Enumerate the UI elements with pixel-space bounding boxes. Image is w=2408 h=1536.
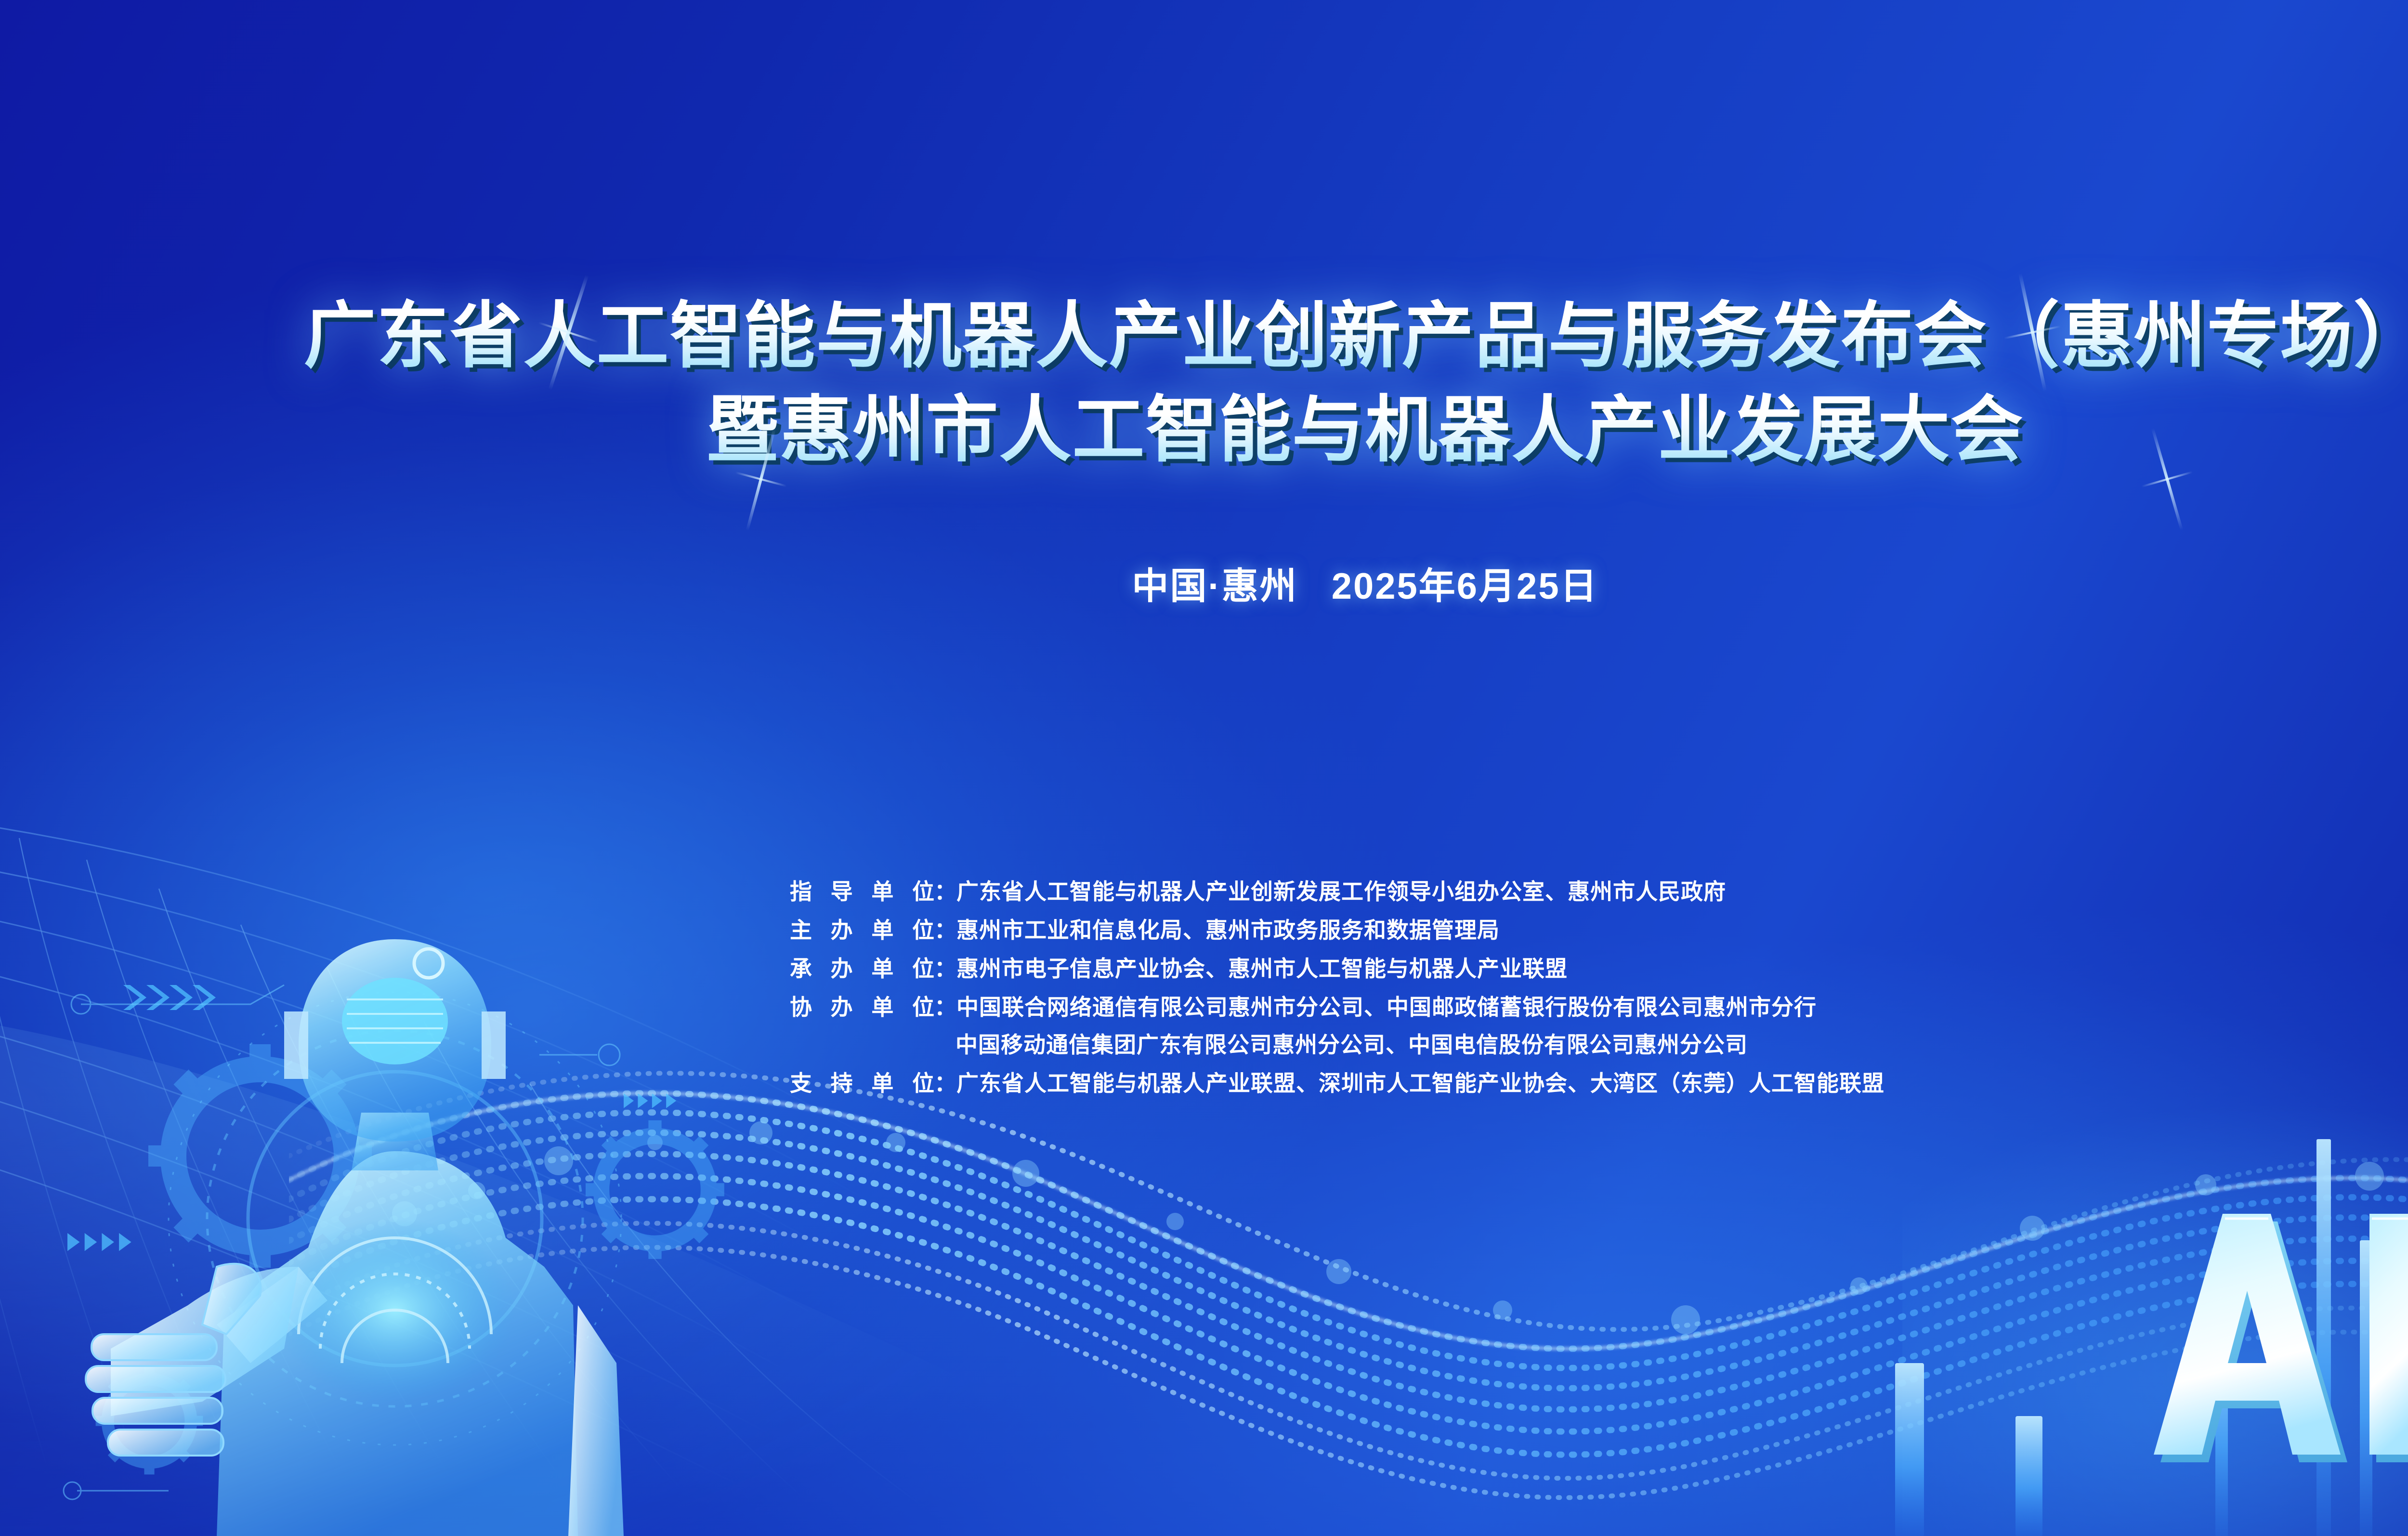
sparkle-icon	[2129, 424, 2206, 535]
conference-title-line-2: 暨惠州市人工智能与机器人产业发展大会	[0, 383, 2408, 477]
humanoid-robot-graphic	[58, 901, 780, 1536]
organization-value: 惠州市工业和信息化局、惠州市政务服务和数据管理局	[956, 913, 2408, 945]
organization-value: 广东省人工智能与机器人产业创新发展工作领导小组办公室、惠州市人民政府	[956, 874, 2408, 906]
organization-colon: ：	[934, 874, 956, 906]
organization-row: 协办单位 ： 中国联合网络通信有限公司惠州市分公司、中国邮政储蓄银行股份有限公司…	[790, 990, 2408, 1022]
organization-row: 支持单位 ： 广东省人工智能与机器人产业联盟、深圳市人工智能产业协会、大湾区（东…	[790, 1066, 2408, 1098]
gear-icon	[96, 1044, 724, 1474]
organization-label: 协办单位	[790, 990, 934, 1022]
ai-logotype	[2133, 1204, 2408, 1474]
sparkle-icon	[1989, 270, 2076, 395]
organization-row: 承办单位 ： 惠州市电子信息产业协会、惠州市人工智能与机器人产业联盟	[790, 951, 2408, 983]
organization-value: 中国联合网络通信有限公司惠州市分公司、中国邮政储蓄银行股份有限公司惠州市分行	[956, 990, 2408, 1022]
organization-label: 主办单位	[790, 913, 934, 945]
organization-label: 指导单位	[790, 874, 934, 906]
organization-value: 广东省人工智能与机器人产业联盟、深圳市人工智能产业协会、大湾区（东莞）人工智能联…	[956, 1066, 2408, 1098]
organization-row: 主办单位 ： 惠州市工业和信息化局、惠州市政务服务和数据管理局	[790, 913, 2408, 945]
subtitle-block: 中国·惠州2025年6月25日	[0, 556, 2408, 609]
organization-colon: ：	[934, 951, 956, 983]
organization-row: 指导单位 ： 广东省人工智能与机器人产业创新发展工作领导小组办公室、惠州市人民政…	[790, 874, 2408, 906]
organization-value: 惠州市电子信息产业协会、惠州市人工智能与机器人产业联盟	[956, 951, 2408, 983]
background-glow-ai-panel	[1902, 1084, 2408, 1536]
date-text: 2025年6月25日	[1332, 566, 1598, 607]
organizations-block: 指导单位 ： 广东省人工智能与机器人产业创新发展工作领导小组办公室、惠州市人民政…	[790, 874, 2408, 1104]
location-text: 中国·惠州	[1132, 566, 1297, 607]
hud-ring-decoration	[169, 992, 621, 1445]
organization-colon: ：	[934, 1066, 956, 1098]
radial-grid-decoration	[0, 751, 1060, 1536]
conference-banner: 广东省人工智能与机器人产业创新产品与服务发布会（惠州专场） 暨惠州市人工智能与机…	[0, 0, 2408, 1536]
chevron-arrows-icon	[67, 985, 676, 1251]
sparkle-icon	[525, 270, 612, 395]
organization-label: 支持单位	[790, 1066, 934, 1098]
organization-value: 中国移动通信集团广东有限公司惠州分公司、中国电信股份有限公司惠州分公司	[955, 1027, 2408, 1059]
robot-body	[86, 939, 624, 1536]
organization-colon: ：	[934, 913, 956, 945]
organization-colon: ：	[934, 990, 956, 1022]
robot-hand	[86, 1264, 261, 1456]
head-sensor-icon	[414, 949, 443, 978]
organization-label: 承办单位	[790, 951, 934, 983]
organization-row-continuation: 中国移动通信集团广东有限公司惠州分公司、中国电信股份有限公司惠州分公司	[790, 1027, 2408, 1059]
sparkle-icon	[722, 424, 799, 535]
